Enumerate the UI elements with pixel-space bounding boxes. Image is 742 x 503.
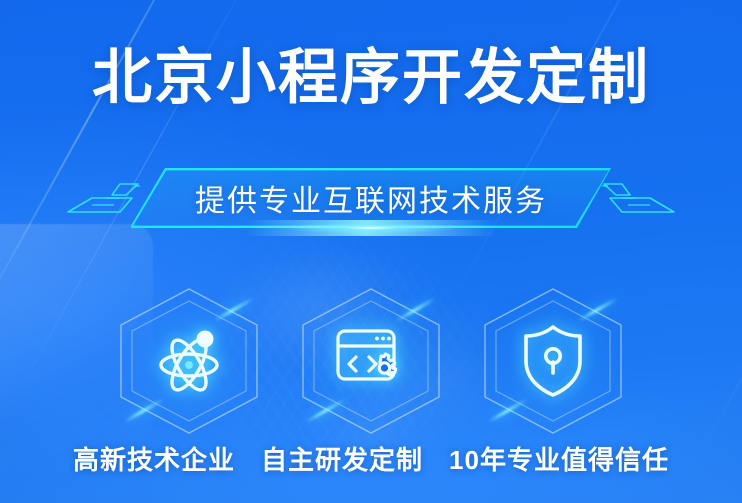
feature-label-2: 10年专业值得信任	[449, 440, 669, 477]
page-title: 北京小程序开发定制	[0, 48, 742, 108]
shield-lock-icon	[513, 321, 593, 401]
feature-icon-row	[0, 286, 742, 436]
banner-subtitle: 提供专业互联网技术服务	[131, 168, 611, 228]
atom-icon	[149, 321, 229, 401]
feature-hexagon	[479, 286, 627, 436]
subtitle-banner: 提供专业互联网技术服务	[131, 168, 611, 228]
feature-label-0: 高新技术企业	[73, 440, 235, 477]
feature-label-1: 自主研发定制	[261, 440, 423, 477]
feature-hexagon	[115, 286, 263, 436]
feature-hexagon	[297, 286, 445, 436]
feature-caption-row: 高新技术企业 自主研发定制 10年专业值得信任	[0, 440, 742, 477]
code-window-gear-icon	[331, 321, 411, 401]
banner-canvas: 北京小程序开发定制 提供专业互联网技术服务	[0, 0, 742, 503]
